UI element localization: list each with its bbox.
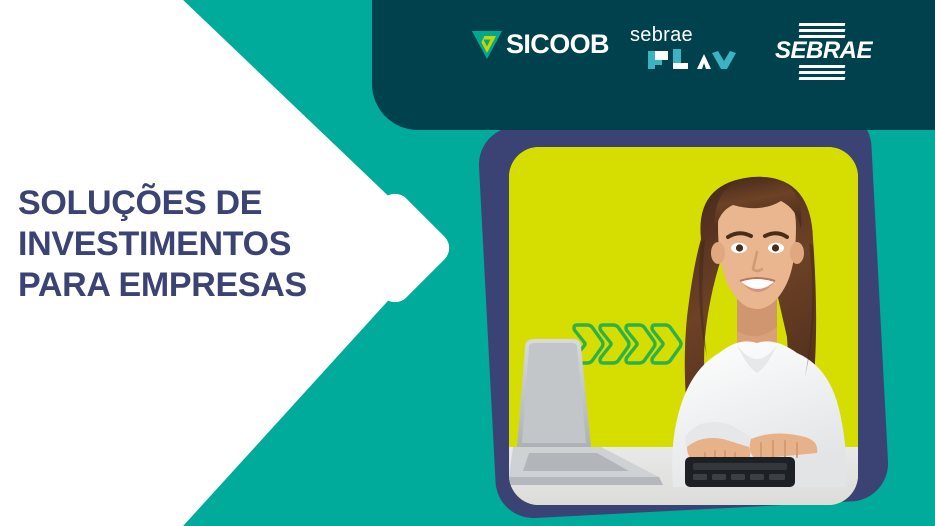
promo-banner: SOLUÇÕES DE INVESTIMENTOS PARA EMPRESAS [0, 0, 935, 526]
play-blocks-svg [648, 47, 738, 73]
sebrae-logo: SEBRAE [775, 21, 871, 85]
page-title: SOLUÇÕES DE INVESTIMENTOS PARA EMPRESAS [18, 183, 368, 305]
person-photo [509, 147, 858, 505]
headline-line-2: INVESTIMENTOS [18, 224, 368, 265]
sebrae-wordmark: SEBRAE [775, 39, 872, 63]
headline-line-3: PARA EMPRESAS [18, 265, 368, 306]
sicoob-wordmark: SICOOB [506, 31, 609, 58]
headline-line-1: SOLUÇÕES DE [18, 183, 368, 224]
sebrae-stripes-bottom-icon [799, 65, 845, 83]
play-blocks-icon [648, 47, 738, 73]
photo-card [509, 147, 858, 505]
sebrae-play-logo: sebrae [626, 25, 736, 81]
sicoob-logo: SICOOB [471, 29, 609, 60]
sicoob-triangle-icon [471, 29, 503, 60]
sebrae-play-wordmark: sebrae [630, 25, 693, 45]
logo-row: SICOOB sebrae [372, 25, 935, 85]
